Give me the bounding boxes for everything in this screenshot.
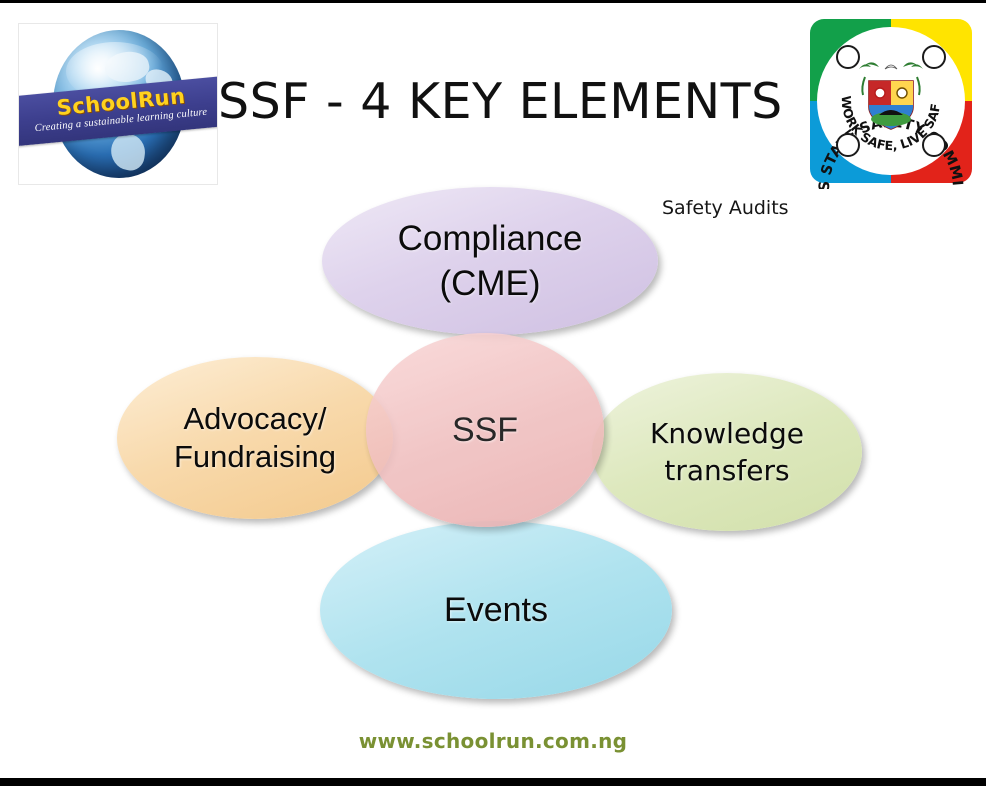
diagram-node-knowledge-transfers[interactable]: Knowledge transfers — [592, 373, 862, 531]
slide-canvas: SchoolRun Creating a sustainable learnin… — [0, 0, 986, 786]
node-label-knowledge-line1: Knowledge — [650, 417, 804, 450]
node-label-knowledge-line2: transfers — [664, 454, 789, 487]
ssf-elements-diagram: Compliance (CME) Advocacy/ Fundraising K… — [0, 3, 986, 786]
node-label-advocacy-line2: Fundraising — [174, 439, 336, 474]
diagram-node-ssf-center[interactable]: SSF — [366, 333, 604, 527]
footer-website-url[interactable]: www.schoolrun.com.ng — [0, 729, 986, 753]
diagram-node-compliance[interactable]: Compliance (CME) — [322, 187, 658, 335]
diagram-node-advocacy[interactable]: Advocacy/ Fundraising — [117, 357, 393, 519]
node-label-ssf: SSF — [442, 408, 528, 452]
node-label-advocacy-line1: Advocacy/ — [183, 401, 326, 436]
annotation-safety-audits: Safety Audits — [662, 197, 789, 219]
node-label-compliance-line2: (CME) — [439, 264, 540, 303]
node-label-events: Events — [434, 588, 558, 632]
node-label-compliance-line1: Compliance — [398, 219, 583, 258]
diagram-node-events[interactable]: Events — [320, 521, 672, 699]
